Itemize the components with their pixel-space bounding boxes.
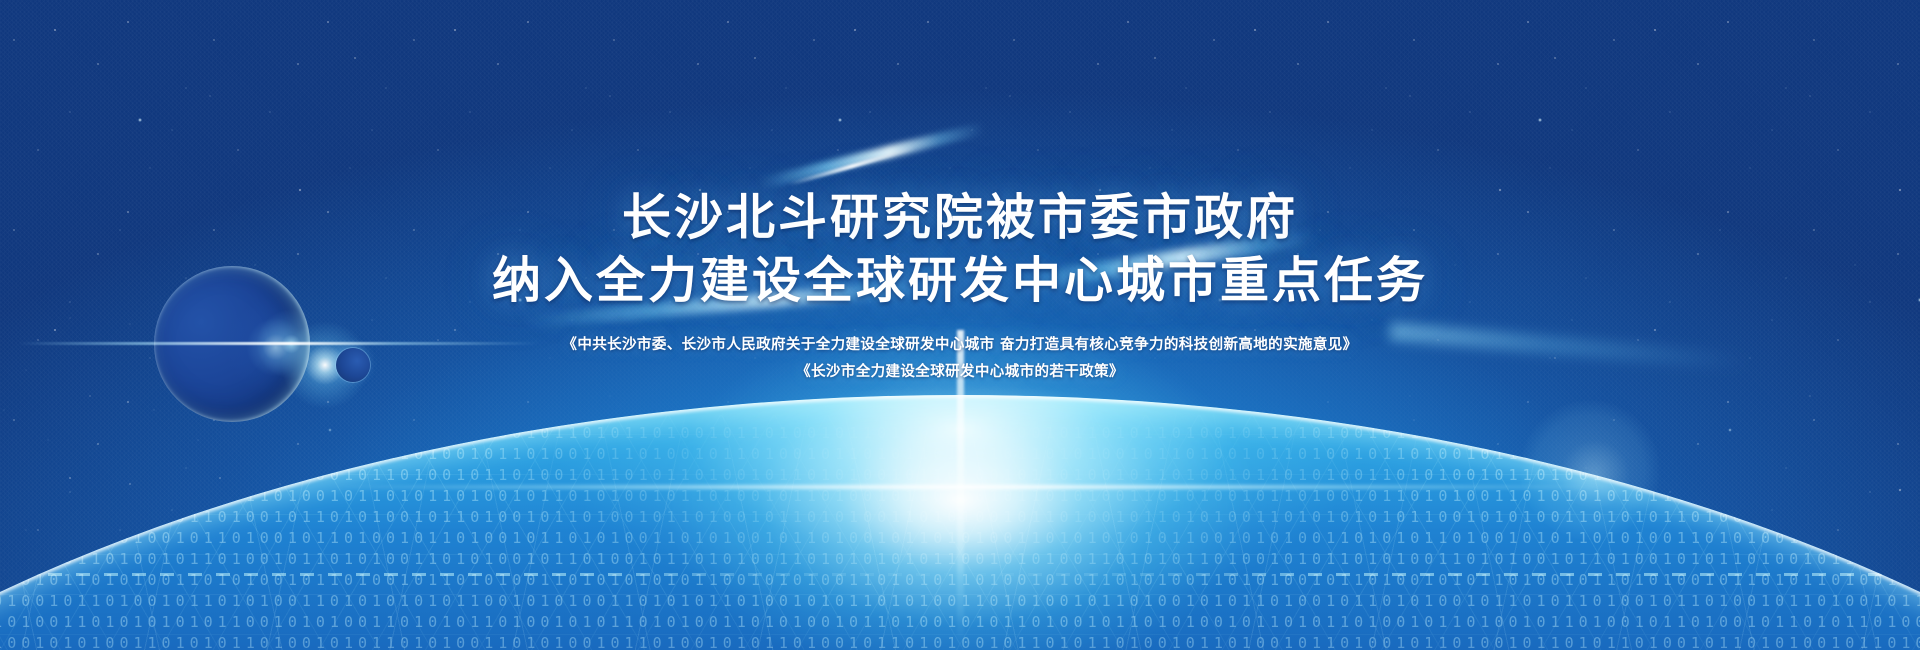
banner-title-line-2: 纳入全力建设全球研发中心城市重点任务 [492, 249, 1428, 312]
banner-subtitle-2: 《长沙市全力建设全球研发中心城市的若干政策》 [562, 359, 1357, 386]
banner-subtitles: 《中共长沙市委、长沙市人民政府关于全力建设全球研发中心城市 奋力打造具有核心竞争… [562, 332, 1357, 386]
hero-banner: 1010110010101001101010110100101011010100… [0, 0, 1920, 650]
banner-subtitle-1: 《中共长沙市委、长沙市人民政府关于全力建设全球研发中心城市 奋力打造具有核心竞争… [562, 332, 1357, 359]
banner-title-line-1: 长沙北斗研究院被市委市政府 [622, 186, 1298, 249]
banner-content: 长沙北斗研究院被市委市政府 纳入全力建设全球研发中心城市重点任务 《中共长沙市委… [0, 0, 1920, 650]
